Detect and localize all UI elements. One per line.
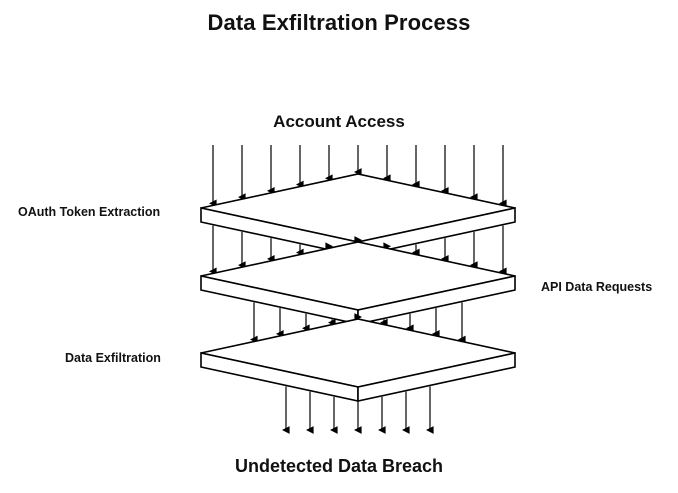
layer-slab-3 [201,319,515,401]
layer-label-data-exfiltration: Data Exfiltration [65,351,161,365]
bottom-caption: Undetected Data Breach [0,456,678,477]
layer-slab-2 [201,242,515,324]
diagram-canvas: Data Exfiltration Process Account Access… [0,0,678,493]
funnel-stack-graphic [0,0,678,493]
layer-label-oauth-token-extraction: OAuth Token Extraction [18,205,160,219]
layer-label-api-data-requests: API Data Requests [541,280,652,294]
